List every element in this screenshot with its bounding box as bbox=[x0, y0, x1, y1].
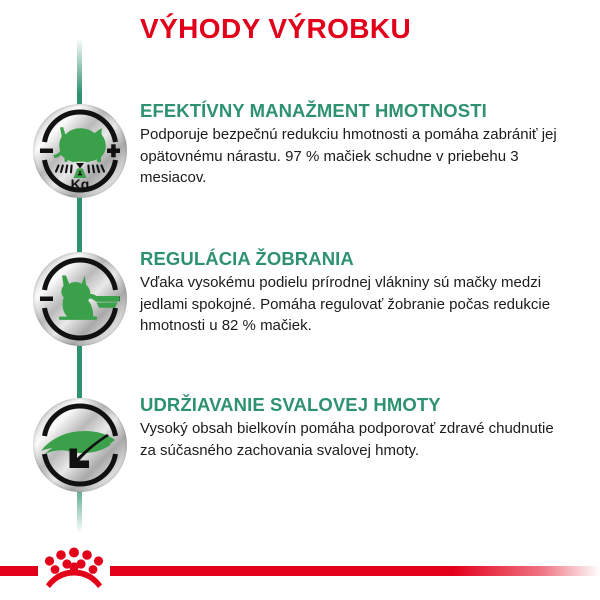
logo-bar-left bbox=[0, 566, 38, 576]
product-benefits-page: VÝHODY VÝROBKU bbox=[0, 0, 600, 600]
logo-bar-right bbox=[110, 566, 600, 576]
benefit-heading: UDRŽIAVANIE SVALOVEJ HMOTY bbox=[140, 394, 572, 415]
benefit-icon-container bbox=[33, 252, 127, 346]
benefit-heading: EFEKTÍVNY MANAŽMENT HMOTNOSTI bbox=[140, 100, 572, 121]
benefit-text-block: UDRŽIAVANIE SVALOVEJ HMOTY Vysoký obsah … bbox=[140, 394, 572, 461]
benefit-icon-container: Kg bbox=[33, 104, 127, 198]
muscle-mass-arrow-icon bbox=[33, 398, 127, 492]
benefit-heading: REGULÁCIA ŽOBRANIA bbox=[140, 248, 572, 269]
svg-text:Kg: Kg bbox=[71, 176, 90, 192]
benefit-body: Podporuje bezpečnú redukciu hmotnosti a … bbox=[140, 124, 572, 188]
royal-canin-crown-logo bbox=[40, 547, 108, 593]
benefit-text-block: EFEKTÍVNY MANAŽMENT HMOTNOSTI Podporuje … bbox=[140, 100, 572, 189]
benefit-text-block: REGULÁCIA ŽOBRANIA Vďaka vysokému podiel… bbox=[140, 248, 572, 337]
cat-with-food-bowl-icon bbox=[33, 252, 127, 346]
benefit-body: Vysoký obsah bielkovín pomáha podporovať… bbox=[140, 418, 572, 461]
brand-logo-band bbox=[0, 540, 600, 600]
benefit-body: Vďaka vysokému podielu prírodnej vláknin… bbox=[140, 272, 572, 336]
cat-on-scale-icon: Kg bbox=[33, 104, 127, 198]
page-title: VÝHODY VÝROBKU bbox=[140, 14, 570, 45]
benefit-icon-container bbox=[33, 398, 127, 492]
